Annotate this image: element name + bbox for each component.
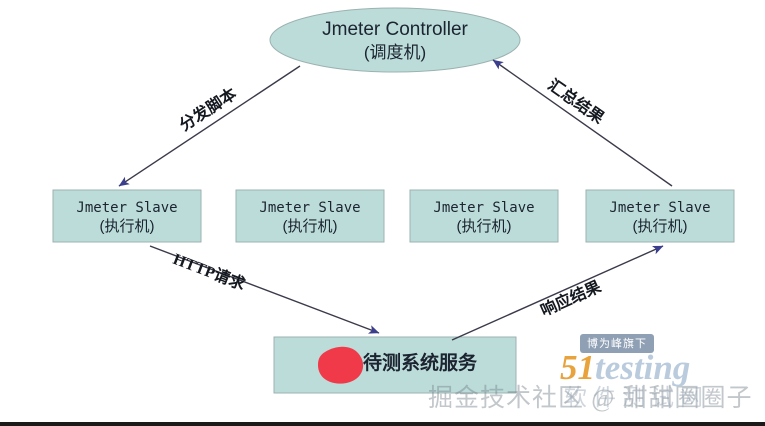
slave-box-3 bbox=[410, 190, 558, 242]
slave-box-4 bbox=[586, 190, 734, 242]
edge-http-request-line bbox=[150, 246, 379, 333]
sut-box bbox=[274, 337, 516, 393]
controller-ellipse bbox=[270, 8, 520, 72]
diagram-canvas: Jmeter Controller (调度机) Jmeter Slave (执行… bbox=[0, 0, 765, 426]
edge-dispatch-line bbox=[119, 66, 300, 186]
red-blob-icon bbox=[318, 347, 363, 384]
slave-box-1 bbox=[53, 190, 201, 242]
edge-response-line bbox=[452, 246, 663, 340]
diagram-svg bbox=[0, 0, 765, 426]
edge-aggregate-line bbox=[493, 60, 672, 186]
slave-box-2 bbox=[236, 190, 384, 242]
